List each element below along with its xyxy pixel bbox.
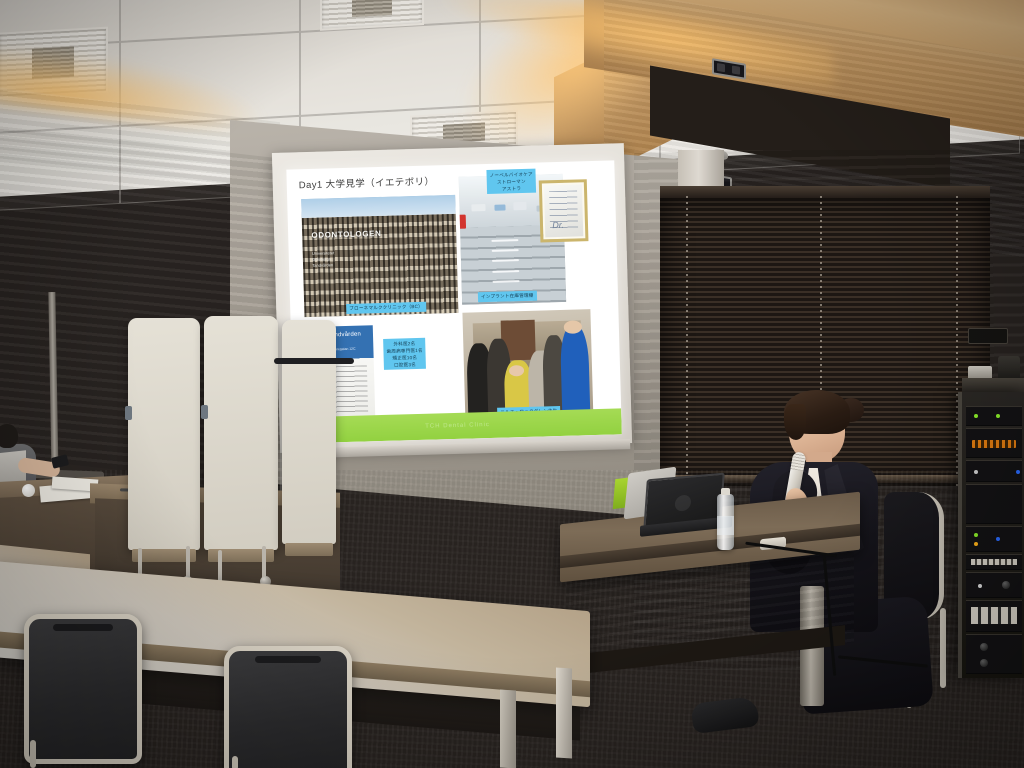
foreground-table-leg: [556, 667, 572, 758]
whiteboard-clip: [201, 405, 208, 419]
mobile-whiteboard-panel[interactable]: [204, 316, 278, 550]
slide-image-certificate: Dr.: [539, 179, 589, 242]
attendee-head: [0, 424, 18, 448]
chair-handle-notch: [255, 656, 321, 663]
av-equipment-rack[interactable]: [958, 392, 1024, 678]
photo-scene: Day1 大学見学（イエテボリ） ODONTOLOGEN Universitet…: [0, 0, 1024, 768]
chair-leg: [232, 756, 238, 768]
chair-leg: [30, 740, 36, 768]
mobile-whiteboard-panel[interactable]: [282, 320, 336, 544]
whiteboard-foot: [285, 543, 333, 556]
bottle-label: [717, 516, 734, 535]
rack-unit-mixer[interactable]: [966, 428, 1022, 458]
slide-image-odontologen-building: ODONTOLOGEN UniversitetetGöteborgsTandvå…: [301, 195, 458, 317]
chair-leg: [940, 608, 946, 688]
paper-cup[interactable]: [22, 484, 35, 497]
rack-unit-amplifier[interactable]: [966, 406, 1022, 426]
label-implant-shelf: インプラント在庫管理棚: [478, 291, 537, 302]
wall-speaker: [968, 328, 1008, 344]
rack-unit-blank: [966, 634, 1022, 674]
attendee-phone[interactable]: [51, 454, 69, 469]
rack-unit-processor[interactable]: [966, 526, 1022, 552]
caster-leg: [186, 546, 190, 580]
bottle-cap: [721, 488, 730, 495]
certificate-signature: Dr.: [552, 220, 564, 230]
water-bottle[interactable]: [717, 494, 734, 550]
blinds-headrail: [660, 186, 990, 198]
slide-title: Day1 大学見学（イエテボリ）: [299, 173, 435, 191]
chair-handle-notch: [53, 624, 114, 631]
label-implant-brands: ノーベルバイオケア ストローマン アストラ: [486, 169, 536, 195]
mobile-whiteboard-panel[interactable]: [128, 318, 200, 550]
whiteboard-clip: [125, 406, 132, 420]
caster-leg: [218, 550, 222, 584]
rack-unit-patchbay[interactable]: [966, 600, 1022, 632]
presenter-hair-side: [784, 404, 806, 440]
rack-unit-meter-bridge[interactable]: [966, 554, 1022, 570]
chair[interactable]: [224, 646, 352, 768]
building-subtext: UniversitetetGöteborgsTandvården: [312, 250, 335, 269]
caster-leg: [262, 546, 266, 580]
blinds-ladder-cord: [686, 196, 688, 486]
whiteboard-handle[interactable]: [274, 358, 354, 364]
chair[interactable]: [24, 614, 142, 764]
foreground-table-leg: [500, 689, 516, 768]
rack-unit-blank: [966, 484, 1022, 524]
presentation-slide: Day1 大学見学（イエテボリ） ODONTOLOGEN Universitet…: [286, 160, 622, 443]
building-sign-text: ODONTOLOGEN: [311, 229, 381, 240]
rack-unit-player[interactable]: [966, 460, 1022, 482]
slide-footer-text: TCH Dental Clinic: [425, 422, 490, 430]
rack-unit-interface[interactable]: [966, 572, 1022, 598]
label-staff-counts: 外科医2名 歯周病専門医1名 矯正医10名 口腔医3名: [383, 338, 426, 371]
